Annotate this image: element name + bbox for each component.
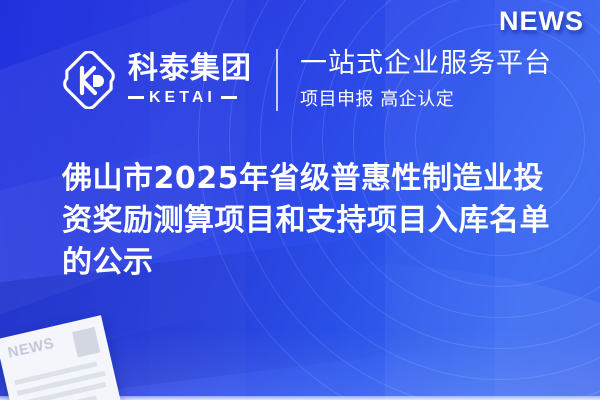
dash-left-icon bbox=[128, 96, 144, 99]
news-wordmark: NEWS bbox=[499, 6, 584, 37]
page-title: 佛山市2025年省级普惠性制造业投资奖励测算项目和支持项目入库名单的公示 bbox=[62, 158, 562, 284]
brand-name-cn: 科泰集团 bbox=[128, 54, 252, 84]
newspaper-masthead: NEWS bbox=[6, 336, 55, 361]
news-banner: NEWS 科泰集团 KETAI bbox=[0, 0, 600, 400]
ketai-kp-monogram-icon bbox=[60, 51, 118, 109]
brand-wordmark: 科泰集团 KETAI bbox=[128, 54, 252, 107]
slogan-main-text: 一站式企业服务平台 bbox=[300, 49, 552, 78]
image-placeholder-icon bbox=[72, 327, 100, 358]
banner-header: 科泰集团 KETAI 一站式企业服务平台 项目申报 高企认定 bbox=[60, 40, 576, 120]
brand-name-en-row: KETAI bbox=[128, 89, 252, 107]
vertical-divider-icon bbox=[276, 49, 278, 111]
newspaper-graphic: NEWS bbox=[0, 315, 124, 400]
brand-name-en: KETAI bbox=[149, 89, 216, 107]
dash-right-icon bbox=[221, 96, 237, 99]
slogan-sub-text: 项目申报 高企认定 bbox=[300, 85, 552, 111]
brand-logo: 科泰集团 KETAI bbox=[60, 51, 252, 109]
slogan-block: 一站式企业服务平台 项目申报 高企认定 bbox=[300, 49, 552, 110]
